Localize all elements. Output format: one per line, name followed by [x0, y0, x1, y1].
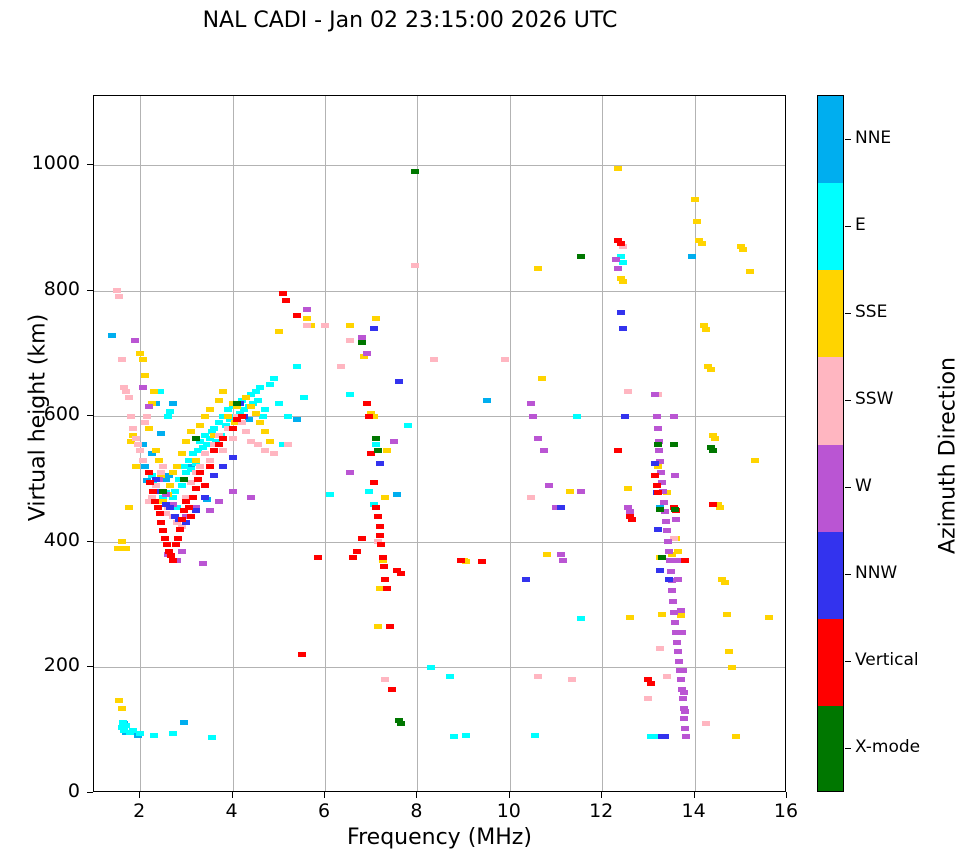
scatter-point-w: [667, 569, 675, 574]
colorbar-tick-label-x-mode: X-mode: [855, 737, 920, 757]
y-axis-label: Virtual height (km): [26, 188, 51, 648]
x-tick-mark: [416, 792, 417, 798]
scatter-point-vertical: [614, 448, 622, 453]
scatter-point-w: [681, 709, 689, 714]
scatter-point-vertical: [397, 571, 405, 576]
scatter-point-ssw: [159, 464, 167, 469]
scatter-point-ssw: [115, 294, 123, 299]
scatter-point-vertical: [314, 555, 322, 560]
scatter-point-e: [293, 364, 301, 369]
scatter-point-sse: [247, 404, 255, 409]
scatter-point-sse: [538, 376, 546, 381]
scatter-point-vertical: [206, 464, 214, 469]
scatter-point-w: [663, 528, 671, 533]
colorbar-tick-label-sse: SSE: [855, 302, 887, 322]
colorbar-tick-label-ssw: SSW: [855, 389, 893, 409]
scatter-point-w: [671, 473, 679, 478]
colorbar-tick-mark: [845, 313, 851, 314]
scatter-point-w: [206, 508, 214, 513]
scatter-point-w: [612, 257, 620, 262]
scatter-point-ssw: [118, 357, 126, 362]
y-tick-label: 1000: [10, 152, 80, 174]
scatter-point-vertical: [161, 536, 169, 541]
scatter-point-sse: [346, 323, 354, 328]
scatter-point-ssw: [501, 357, 509, 362]
x-tick-mark: [232, 792, 233, 798]
x-tick-label: 10: [479, 800, 539, 822]
scatter-point-sse: [206, 407, 214, 412]
colorbar-segment-x-mode: [818, 706, 843, 792]
scatter-point-e: [136, 731, 144, 736]
scatter-point-e: [150, 733, 158, 738]
scatter-point-sse: [728, 665, 736, 670]
x-tick-label: 6: [294, 800, 354, 822]
scatter-point-e: [619, 260, 627, 265]
scatter-point-e: [261, 407, 269, 412]
scatter-point-nne: [180, 720, 188, 725]
x-tick-label: 14: [664, 800, 724, 822]
scatter-data-layer: [94, 96, 785, 791]
scatter-point-e: [171, 489, 179, 494]
scatter-point-nne: [157, 431, 165, 436]
colorbar-tick-label-nne: NNE: [855, 128, 891, 148]
scatter-point-sse: [372, 316, 380, 321]
scatter-point-vertical: [380, 564, 388, 569]
scatter-point-w: [614, 266, 622, 271]
y-tick-label: 0: [10, 780, 80, 802]
scatter-point-sse: [543, 552, 551, 557]
scatter-point-nnw: [617, 310, 625, 315]
scatter-point-ssw: [134, 442, 142, 447]
scatter-point-x-mode: [233, 401, 241, 406]
scatter-point-ssw: [381, 677, 389, 682]
colorbar-tick-label-w: W: [855, 476, 872, 496]
scatter-point-vertical: [388, 687, 396, 692]
scatter-point-sse: [707, 367, 715, 372]
scatter-point-vertical: [376, 524, 384, 529]
colorbar-segment-w: [818, 445, 843, 532]
scatter-point-vertical: [163, 542, 171, 547]
scatter-point-nne: [483, 398, 491, 403]
y-tick-mark: [87, 792, 93, 793]
scatter-point-sse: [252, 411, 260, 416]
x-tick-mark: [139, 792, 140, 798]
scatter-point-vertical: [709, 502, 717, 507]
scatter-point-w: [681, 726, 689, 731]
scatter-point-vertical: [379, 555, 387, 560]
scatter-point-vertical: [178, 517, 186, 522]
scatter-point-vertical: [192, 486, 200, 491]
scatter-point-vertical: [210, 448, 218, 453]
y-tick-mark: [87, 666, 93, 667]
scatter-point-e: [208, 735, 216, 740]
scatter-point-w: [682, 734, 690, 739]
scatter-point-nnw: [619, 326, 627, 331]
scatter-point-vertical: [298, 652, 306, 657]
scatter-point-sse: [702, 327, 710, 332]
scatter-point-vertical: [156, 511, 164, 516]
scatter-point-vertical: [176, 527, 184, 532]
colorbar-tick-mark: [845, 226, 851, 227]
scatter-point-sse: [698, 241, 706, 246]
scatter-point-e: [573, 414, 581, 419]
scatter-point-e: [169, 731, 177, 736]
scatter-point-sse: [732, 734, 740, 739]
scatter-point-w: [363, 351, 371, 356]
scatter-point-ssw: [143, 414, 151, 419]
scatter-point-vertical: [651, 473, 659, 478]
scatter-point-ssw: [206, 458, 214, 463]
scatter-point-sse: [155, 458, 163, 463]
scatter-point-w: [680, 690, 688, 695]
scatter-point-ssw: [196, 464, 204, 469]
scatter-point-sse: [187, 429, 195, 434]
scatter-point-e: [531, 733, 539, 738]
scatter-point-x-mode: [192, 436, 200, 441]
scatter-point-nnw: [201, 495, 209, 500]
scatter-point-vertical: [169, 558, 177, 563]
scatter-point-vertical: [185, 505, 193, 510]
scatter-point-x-mode: [180, 477, 188, 482]
x-tick-mark: [324, 792, 325, 798]
scatter-point-e: [577, 616, 585, 621]
scatter-point-x-mode: [658, 555, 666, 560]
scatter-point-e: [164, 414, 172, 419]
scatter-point-vertical: [353, 549, 361, 554]
scatter-point-nnw: [665, 577, 673, 582]
scatter-point-w: [346, 470, 354, 475]
scatter-point-nnw: [654, 527, 662, 532]
scatter-point-nnw: [229, 455, 237, 460]
scatter-point-nnw: [219, 464, 227, 469]
scatter-point-nnw: [522, 577, 530, 582]
scatter-point-w: [527, 401, 535, 406]
scatter-point-nne: [293, 417, 301, 422]
scatter-point-nnw: [192, 508, 200, 513]
scatter-point-w: [679, 696, 687, 701]
scatter-point-sse: [125, 505, 133, 510]
scatter-point-w: [247, 495, 255, 500]
scatter-point-w: [557, 552, 565, 557]
scatter-point-ssw: [337, 364, 345, 369]
scatter-point-vertical: [149, 489, 157, 494]
scatter-point-sse: [132, 464, 140, 469]
colorbar-tick-mark: [845, 748, 851, 749]
scatter-point-ssw: [534, 674, 542, 679]
scatter-point-sse: [614, 166, 622, 171]
scatter-point-w: [139, 385, 147, 390]
scatter-point-w: [545, 483, 553, 488]
scatter-point-sse: [136, 351, 144, 356]
scatter-point-sse: [626, 615, 634, 620]
scatter-point-sse: [118, 539, 126, 544]
scatter-point-vertical: [215, 442, 223, 447]
page-title: NAL CADI - Jan 02 23:15:00 2026 UTC: [0, 8, 820, 33]
scatter-point-vertical: [279, 291, 287, 296]
scatter-point-nnw: [557, 505, 565, 510]
scatter-point-nnw: [621, 414, 629, 419]
scatter-point-ssw: [229, 436, 237, 441]
scatter-point-sse: [192, 458, 200, 463]
scatter-point-w: [669, 599, 677, 604]
scatter-point-ssw: [702, 721, 710, 726]
scatter-point-ssw: [219, 448, 227, 453]
scatter-point-sse: [624, 486, 632, 491]
scatter-point-ssw: [656, 646, 664, 651]
scatter-point-w: [677, 608, 685, 613]
scatter-point-w: [674, 577, 682, 582]
scatter-point-sse: [169, 470, 177, 475]
scatter-point-sse: [152, 448, 160, 453]
scatter-point-ssw: [430, 357, 438, 362]
scatter-point-w: [655, 448, 663, 453]
colorbar-segment-e: [818, 183, 843, 270]
scatter-point-sse: [114, 546, 122, 551]
scatter-point-e: [326, 492, 334, 497]
scatter-point-ssw: [527, 495, 535, 500]
scatter-point-e: [178, 483, 186, 488]
scatter-point-vertical: [377, 542, 385, 547]
scatter-point-e: [427, 665, 435, 670]
scatter-point-w: [679, 668, 687, 673]
scatter-point-ssw: [141, 420, 149, 425]
scatter-point-sse: [166, 483, 174, 488]
scatter-point-ssw: [284, 442, 292, 447]
scatter-point-e: [270, 376, 278, 381]
scatter-point-nne: [393, 492, 401, 497]
scatter-point-sse: [303, 316, 311, 321]
scatter-point-ssw: [261, 448, 269, 453]
scatter-point-sse: [716, 505, 724, 510]
scatter-point-w: [651, 392, 659, 397]
colorbar-segment-nne: [818, 96, 843, 183]
scatter-point-e: [300, 395, 308, 400]
scatter-point-nnw: [656, 568, 664, 573]
scatter-point-w: [534, 436, 542, 441]
scatter-point-sse: [723, 612, 731, 617]
scatter-point-vertical: [372, 505, 380, 510]
colorbar-tick-mark: [845, 574, 851, 575]
scatter-point-vertical: [681, 558, 689, 563]
x-tick-mark: [694, 792, 695, 798]
scatter-point-ssw: [132, 436, 140, 441]
scatter-point-w: [672, 517, 680, 522]
scatter-point-ssw: [270, 451, 278, 456]
scatter-point-e: [284, 414, 292, 419]
scatter-point-e: [166, 409, 174, 414]
x-tick-label: 16: [756, 800, 816, 822]
scatter-point-w: [662, 519, 670, 524]
x-tick-label: 8: [386, 800, 446, 822]
scatter-point-vertical: [293, 313, 301, 318]
x-tick-label: 12: [571, 800, 631, 822]
scatter-point-vertical: [358, 536, 366, 541]
scatter-point-vertical: [478, 559, 486, 564]
scatter-point-ssw: [201, 451, 209, 456]
scatter-point-w: [199, 561, 207, 566]
scatter-point-e: [210, 426, 218, 431]
scatter-point-w: [664, 539, 672, 544]
scatter-point-w: [674, 649, 682, 654]
scatter-point-nnw: [370, 326, 378, 331]
scatter-point-vertical: [157, 520, 165, 525]
scatter-point-sse: [201, 414, 209, 419]
scatter-point-vertical: [196, 470, 204, 475]
scatter-point-vertical: [146, 480, 154, 485]
scatter-point-sse: [139, 357, 147, 362]
scatter-point-nnw: [166, 505, 174, 510]
scatter-point-w: [665, 549, 673, 554]
scatter-point-sse: [196, 423, 204, 428]
x-axis-label: Frequency (MHz): [93, 825, 786, 850]
scatter-point-w: [540, 448, 548, 453]
scatter-point-vertical: [159, 528, 167, 533]
scatter-point-ssw: [127, 414, 135, 419]
scatter-point-w: [653, 414, 661, 419]
scatter-point-vertical: [151, 499, 159, 504]
scatter-point-x-mode: [411, 169, 419, 174]
scatter-point-nnw: [376, 461, 384, 466]
colorbar-label: Azimuth Direction: [936, 226, 958, 686]
scatter-point-ssw: [644, 696, 652, 701]
scatter-point-sse: [725, 649, 733, 654]
scatter-point-nne: [141, 464, 149, 469]
scatter-point-vertical: [386, 624, 394, 629]
scatter-point-w: [303, 307, 311, 312]
scatter-point-vertical: [383, 586, 391, 591]
scatter-point-sse: [746, 269, 754, 274]
scatter-point-vertical: [349, 555, 357, 560]
scatter-point-vertical: [219, 436, 227, 441]
scatter-point-x-mode: [654, 442, 662, 447]
y-tick-label: 200: [10, 654, 80, 676]
y-tick-mark: [87, 290, 93, 291]
scatter-point-x-mode: [372, 436, 380, 441]
scatter-point-sse: [566, 489, 574, 494]
scatter-point-e: [365, 489, 373, 494]
scatter-point-w: [677, 677, 685, 682]
scatter-point-e: [446, 674, 454, 679]
scatter-point-w: [654, 426, 662, 431]
scatter-point-vertical: [189, 495, 197, 500]
scatter-point-sse: [266, 439, 274, 444]
colorbar-segment-ssw: [818, 357, 843, 444]
scatter-point-e: [372, 442, 380, 447]
scatter-point-sse: [534, 266, 542, 271]
scatter-point-ssw: [568, 677, 576, 682]
scatter-point-w: [577, 489, 585, 494]
scatter-point-x-mode: [374, 448, 382, 453]
scatter-point-ssw: [157, 470, 165, 475]
scatter-point-w: [668, 588, 676, 593]
scatter-point-e: [254, 398, 262, 403]
scatter-point-vertical: [374, 514, 382, 519]
scatter-point-sse: [150, 389, 158, 394]
scatter-point-sse: [219, 389, 227, 394]
scatter-point-vertical: [647, 681, 655, 686]
scatter-point-sse: [182, 439, 190, 444]
scatter-point-w: [673, 640, 681, 645]
scatter-point-vertical: [628, 517, 636, 522]
scatter-point-vertical: [653, 483, 661, 488]
x-tick-mark: [509, 792, 510, 798]
scatter-point-vertical: [154, 505, 162, 510]
scatter-point-ssw: [242, 429, 250, 434]
colorbar-tick-label-e: E: [855, 215, 866, 235]
scatter-point-sse: [711, 436, 719, 441]
scatter-point-sse: [145, 426, 153, 431]
scatter-point-vertical: [172, 542, 180, 547]
scatter-point-x-mode: [358, 340, 366, 345]
scatter-point-nne: [108, 333, 116, 338]
y-tick-mark: [87, 415, 93, 416]
scatter-point-vertical: [174, 536, 182, 541]
scatter-point-sse: [256, 420, 264, 425]
scatter-point-ssw: [122, 389, 130, 394]
scatter-point-nne: [169, 401, 177, 406]
scatter-point-x-mode: [656, 507, 664, 512]
scatter-point-x-mode: [159, 489, 167, 494]
scatter-point-nnw: [210, 473, 218, 478]
colorbar-tick-mark: [845, 139, 851, 140]
scatter-point-vertical: [381, 577, 389, 582]
scatter-point-sse: [751, 458, 759, 463]
scatter-point-w: [673, 558, 681, 563]
scatter-point-e: [450, 734, 458, 739]
scatter-point-ssw: [624, 389, 632, 394]
scatter-point-w: [559, 558, 567, 563]
scatter-point-sse: [739, 247, 747, 252]
colorbar-segment-vertical: [818, 619, 843, 706]
colorbar-tick-label-vertical: Vertical: [855, 650, 919, 670]
x-tick-label: 2: [109, 800, 169, 822]
scatter-point-vertical: [282, 298, 290, 303]
scatter-point-x-mode: [709, 448, 717, 453]
scatter-point-e: [404, 423, 412, 428]
scatter-point-e: [462, 733, 470, 738]
scatter-point-w: [529, 414, 537, 419]
scatter-point-ssw: [129, 426, 137, 431]
scatter-point-sse: [374, 624, 382, 629]
scatter-point-sse: [224, 414, 232, 419]
scatter-point-e: [275, 401, 283, 406]
x-tick-mark: [786, 792, 787, 798]
scatter-point-nnw: [651, 461, 659, 466]
scatter-point-vertical: [194, 477, 202, 482]
scatter-point-x-mode: [670, 442, 678, 447]
scatter-point-sse: [383, 448, 391, 453]
colorbar-tick-label-nnw: NNW: [855, 563, 897, 583]
scatter-point-w: [229, 489, 237, 494]
scatter-point-sse: [141, 373, 149, 378]
plot-axes: [93, 95, 786, 792]
scatter-point-w: [670, 414, 678, 419]
scatter-point-ssw: [254, 442, 262, 447]
scatter-point-sse: [693, 219, 701, 224]
scatter-point-sse: [721, 580, 729, 585]
scatter-point-sse: [122, 546, 130, 551]
scatter-point-x-mode: [577, 254, 585, 259]
scatter-point-vertical: [654, 490, 662, 495]
scatter-point-ssw: [113, 288, 121, 293]
scatter-point-vertical: [370, 480, 378, 485]
scatter-point-vertical: [617, 241, 625, 246]
scatter-point-ssw: [139, 458, 147, 463]
scatter-point-w: [671, 620, 679, 625]
scatter-point-sse: [619, 279, 627, 284]
scatter-point-sse: [275, 329, 283, 334]
scatter-point-ssw: [346, 338, 354, 343]
